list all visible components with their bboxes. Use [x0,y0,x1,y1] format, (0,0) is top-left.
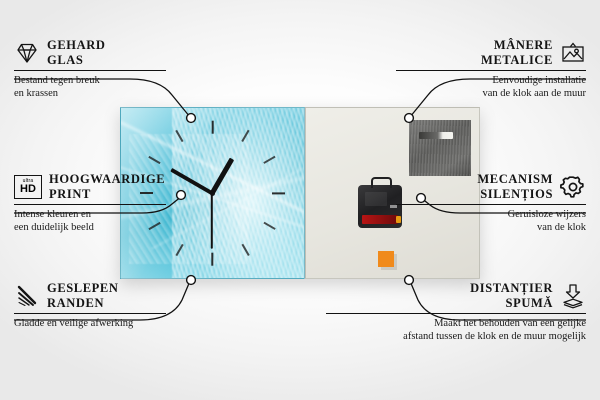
callout-description: Maakt het behouden van een gelijke [326,317,586,330]
clock-minute-hand [170,168,213,195]
ultra-hd-icon: ultra HD [14,175,42,199]
bevelled-edges-icon [14,283,40,309]
clock-tick [263,156,275,164]
callout-title: GEHARD GLAS [47,38,105,68]
clock-tick [272,192,285,194]
callout-manere-metalice: MÂNERE METALICE Eenvoudige installatie v… [396,38,586,100]
movement-detail [365,192,387,206]
clock-hour-hand [210,157,234,194]
callout-description: en krassen [14,87,166,100]
spacer-press-icon [560,283,586,309]
callout-header: GEHARD GLAS [14,38,166,68]
diamond-icon [14,40,40,66]
ultra-hd-large-label: HD [20,184,36,195]
callout-description: Geruisloze wijzers [396,208,586,221]
foam-spacer [378,251,394,267]
clock-tick [149,156,161,164]
callout-title: DISTANȚIER SPUMĂ [470,281,553,311]
callout-distantier-spuma: DISTANȚIER SPUMĂ Maakt het behouden van … [326,281,586,343]
gear-icon [560,174,586,200]
divider [14,204,166,205]
callout-title: MECANISM SILENȚIOS [477,172,553,202]
divider [14,313,166,314]
battery [362,215,398,224]
divider [396,204,586,205]
divider [396,70,586,71]
callout-geslepen-randen: GESLEPEN RANDEN Gladde en veilige afwerk… [14,281,166,330]
callout-description: een duidelijk beeld [14,221,166,234]
clock-tick [241,244,249,256]
clock-tick [263,222,275,230]
callout-title: MÂNERE METALICE [481,38,553,68]
divider [14,70,166,71]
callout-header: DISTANȚIER SPUMĂ [326,281,586,311]
clock-tick [175,130,183,142]
callout-header: ultra HD HOOGWAARDIGE PRINT [14,172,166,202]
infographic-canvas: GEHARD GLAS Bestand tegen breuk en krass… [0,0,600,400]
callout-description: van de klok [396,221,586,234]
hanger-hook [371,177,392,188]
clock-second-hand [211,193,213,249]
callout-description: afstand tussen de klok en de muur mogeli… [326,330,586,343]
callout-title: GESLEPEN RANDEN [47,281,119,311]
callout-header: MÂNERE METALICE [396,38,586,68]
callout-hoogwaardige-print: ultra HD HOOGWAARDIGE PRINT Intense kleu… [14,172,166,234]
divider [326,313,586,314]
callout-description: Eenvoudige installatie [396,74,586,87]
callout-header: GESLEPEN RANDEN [14,281,166,311]
hanger-slot [419,132,453,139]
callout-description: van de klok aan de muur [396,87,586,100]
callout-description: Intense kleuren en [14,208,166,221]
clock-tick [211,120,213,133]
picture-frame-icon [560,40,586,66]
callout-gehard-glas: GEHARD GLAS Bestand tegen breuk en krass… [14,38,166,100]
callout-header: MECANISM SILENȚIOS [396,172,586,202]
callout-title: HOOGWAARDIGE PRINT [49,172,165,202]
clock-tick [175,244,183,256]
callout-description: Gladde en veilige afwerking [14,317,166,330]
callout-description: Bestand tegen breuk [14,74,166,87]
clock-tick [211,252,213,265]
clock-hub [210,191,215,196]
callout-mecanism-silentios: MECANISM SILENȚIOS Geruisloze wijzers va… [396,172,586,234]
metal-hanger-plate [409,120,471,176]
clock-tick [241,130,249,142]
